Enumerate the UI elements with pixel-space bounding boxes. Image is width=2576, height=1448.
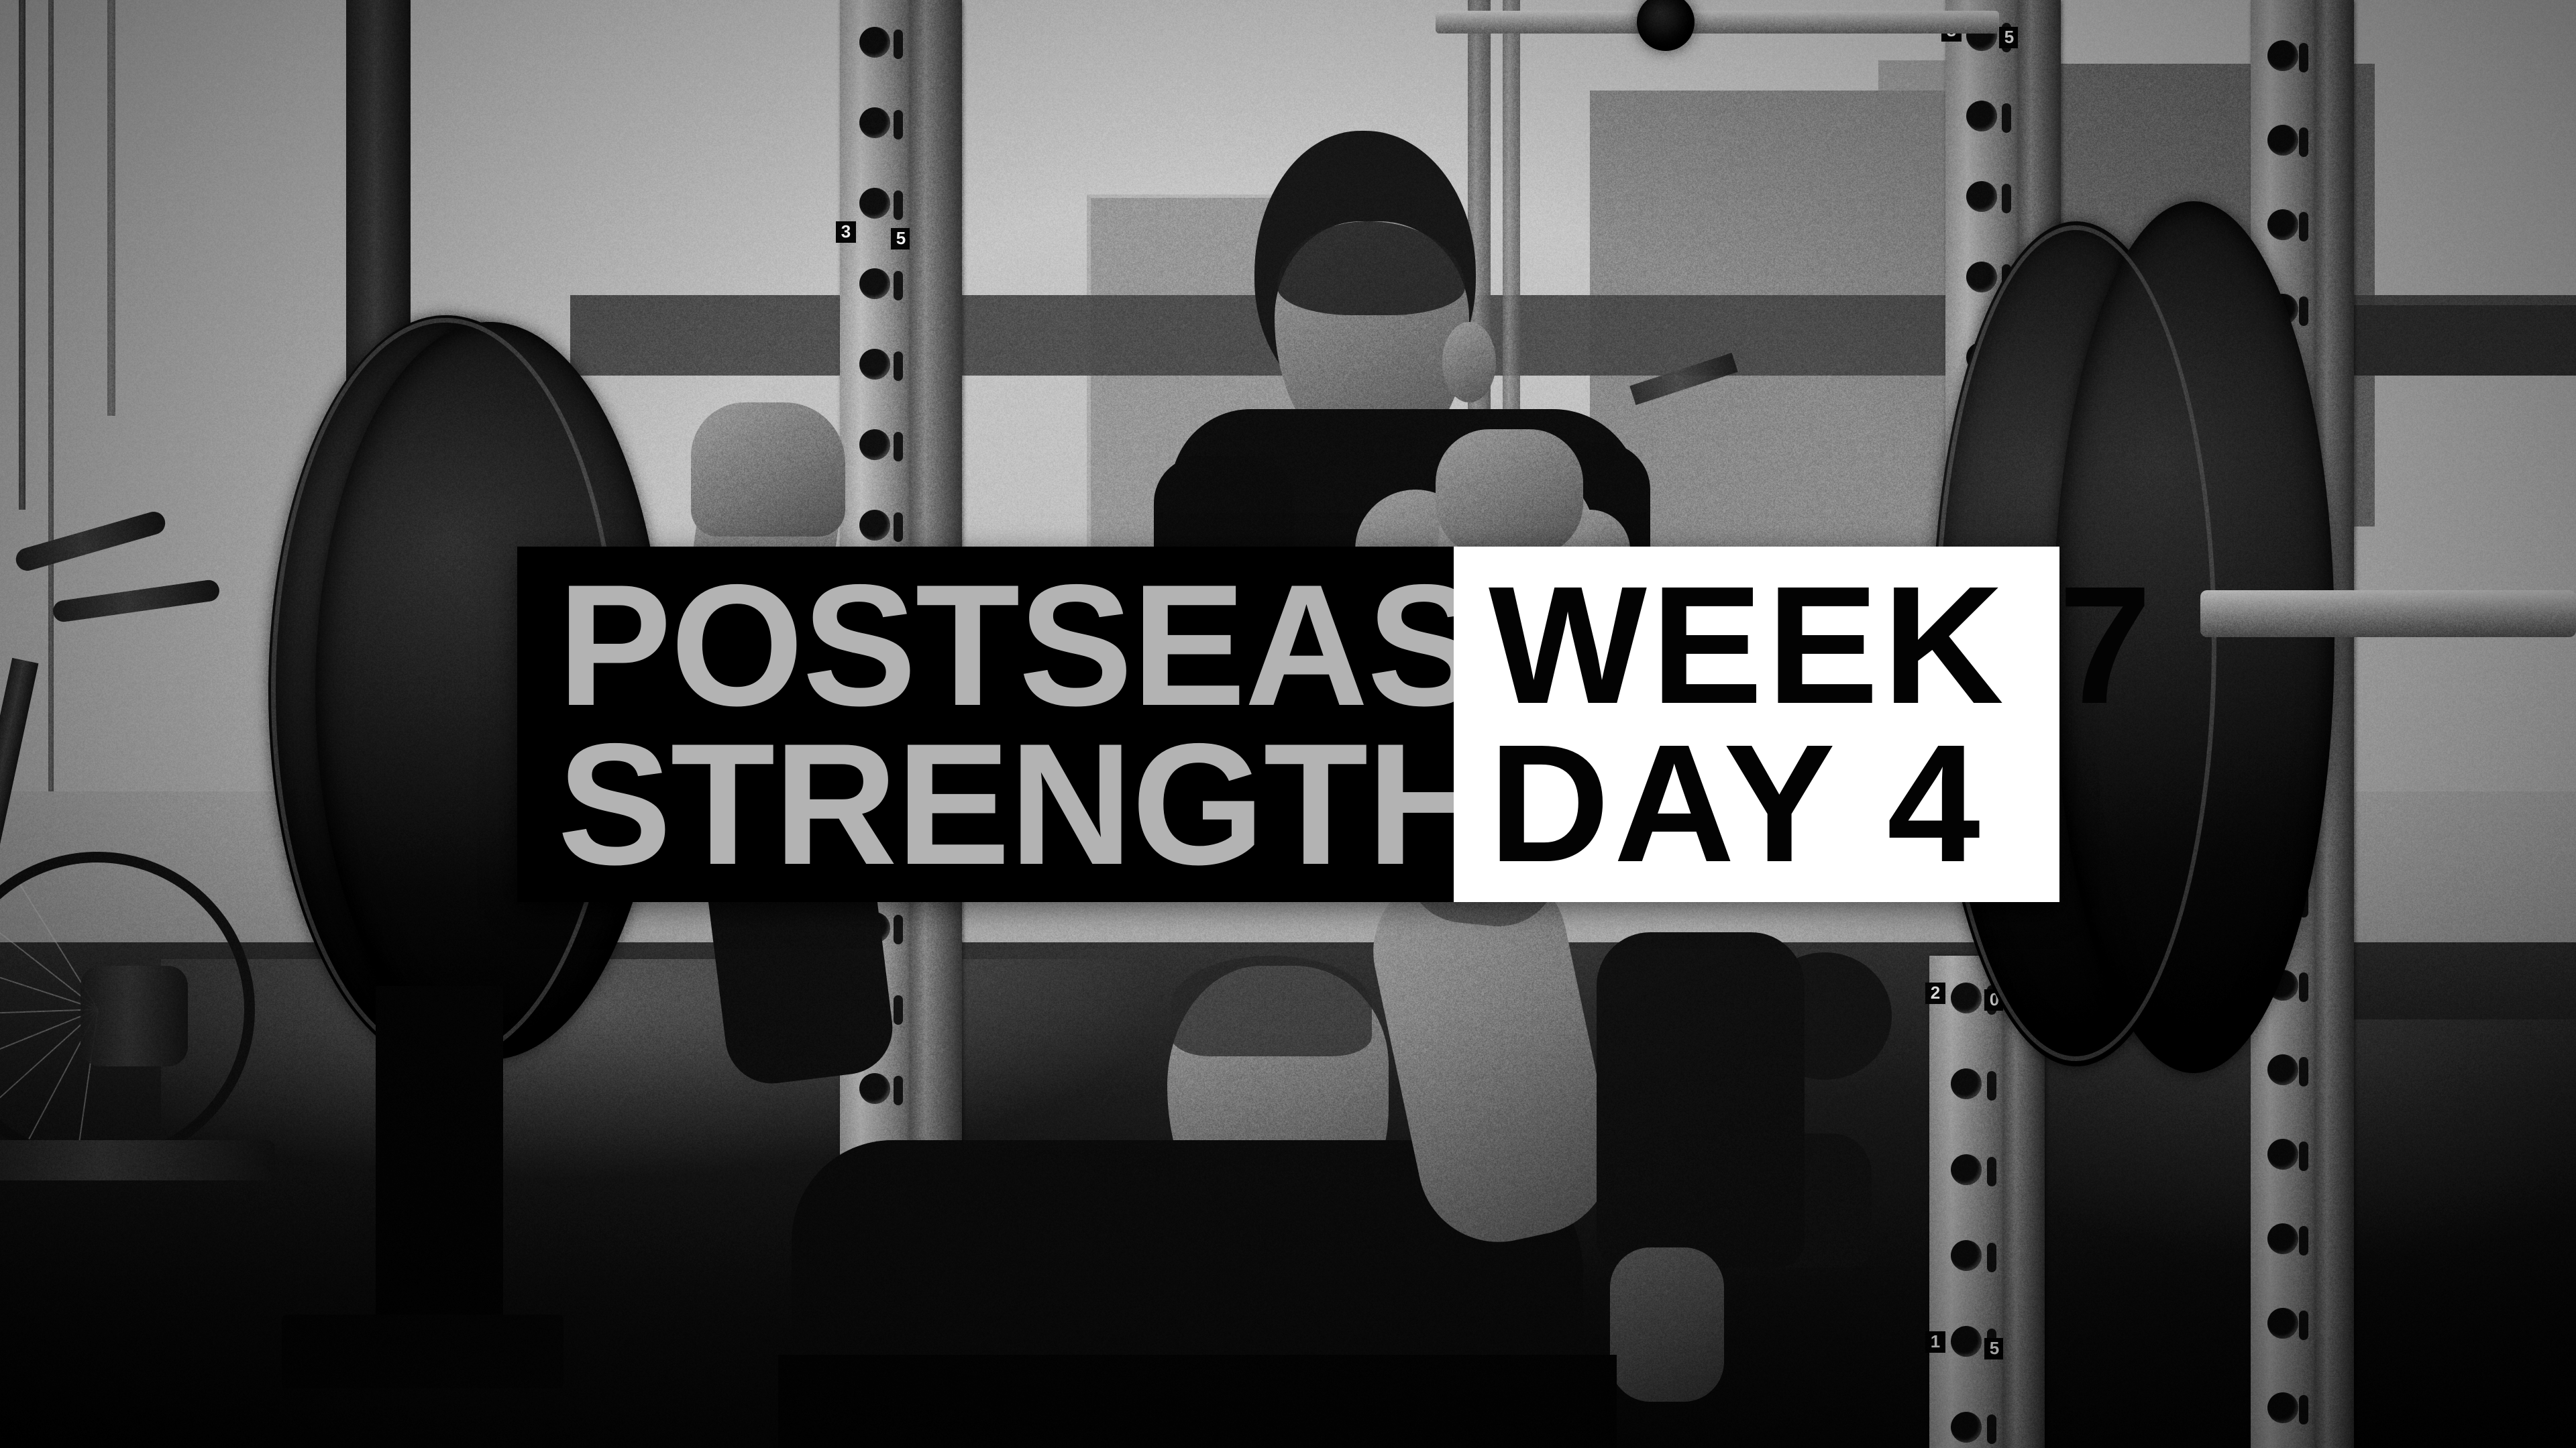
rack-slot [1987,1071,1996,1101]
program-panel: POSTSEASON STRENGTH [517,547,1454,902]
rack-hole [2267,209,2298,240]
rack-slot [894,30,903,59]
day-label: DAY 4 [1489,720,1984,887]
background-person [1597,932,1805,1268]
rack-slot [2299,43,2308,72]
rack-column-right-lower: 2015 [1929,956,2003,1448]
rack-slot [1987,1157,1996,1186]
rack-number-label: 5 [891,228,911,249]
wall-cable-3 [107,0,115,416]
rack-slot [894,271,903,300]
rack-slot [894,190,903,220]
rack-hole [1951,1412,1982,1443]
poster-canvas: 3530 35 2015 [0,0,2576,1448]
rack-slot [1987,1243,1996,1272]
rack-slot [894,351,903,381]
rack-hole [859,27,890,58]
plate-stand-left [376,986,503,1361]
lifter-hair [1171,956,1372,1056]
session-panel: WEEK 7 DAY 4 [1454,547,2059,902]
rack-hole [2267,1308,2298,1339]
rack-hole [1966,101,1997,131]
rack-slot [894,915,903,944]
rack-slot [894,995,903,1025]
rack-hole [1951,983,1982,1013]
rack-hole [1951,1240,1982,1271]
program-title-line-2: STRENGTH [557,718,1489,891]
week-label: WEEK 7 [1489,561,2156,729]
rack-number-label: 5 [1999,27,2019,48]
rack-hole [2267,1139,2298,1170]
rack-hole [859,349,890,380]
rack-hole [859,107,890,138]
rack-slot [2299,1141,2308,1171]
rack-hole [2267,40,2298,71]
rack-slot [2299,127,2308,157]
air-bike-seat [80,966,188,1066]
rack-hole [1966,262,1997,292]
rack-slot [2299,1057,2308,1087]
rack-hole [859,268,890,299]
title-card: POSTSEASON STRENGTH WEEK 7 DAY 4 [517,547,2059,902]
rack-hole [1951,1326,1982,1357]
rack-slot [2299,1311,2308,1340]
rack-hole [2267,1054,2298,1085]
pull-up-bar [1436,11,1999,34]
rack-slot [1987,1414,1996,1444]
rack-number-label: 5 [1984,1338,2004,1359]
rack-hole [1966,181,1997,212]
rack-slot [894,1076,903,1105]
rack-hole [2267,1223,2298,1254]
rack-slot [2299,1226,2308,1256]
rack-hole [859,188,890,219]
rack-hole [1951,1068,1982,1099]
rack-hole [2267,125,2298,156]
weight-bench [778,1355,1617,1448]
rack-slot [894,110,903,140]
rack-hole [2267,1392,2298,1423]
rack-hole [859,1073,890,1104]
rack-slot [2299,972,2308,1002]
plate-base-left [282,1315,563,1388]
rack-slot [2002,184,2011,213]
barbell-sleeve [2200,590,2576,637]
rack-slot [2002,103,2011,133]
wall-cable-2 [48,0,54,791]
rack-number-label: 2 [1925,983,1945,1004]
rack-slot [2299,212,2308,241]
rack-hole [859,429,890,460]
rack-slot [894,512,903,542]
air-bike-base [0,1140,275,1180]
background-person-leg [1610,1247,1724,1402]
rack-number-label: 1 [1925,1331,1945,1353]
lifter-hand-right [1436,429,1583,557]
rack-slot [2299,296,2308,326]
wall-cable-1 [19,0,25,510]
lifter-hand-left [691,402,845,537]
rack-slot [2299,1395,2308,1425]
rack-number-label: 3 [836,221,856,243]
rack-slot [894,432,903,461]
spotter-ear [1442,322,1496,402]
rack-hole [1951,1154,1982,1185]
rack-hole [859,510,890,541]
